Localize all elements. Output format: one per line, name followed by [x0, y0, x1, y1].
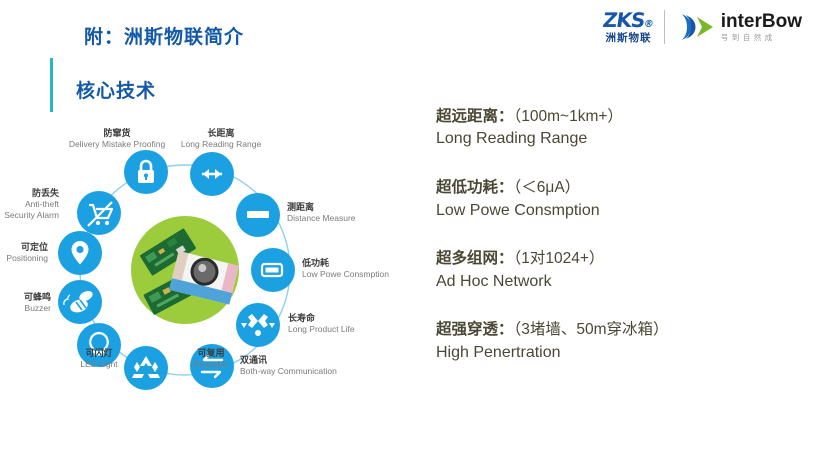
label-cn: 防丢失: [0, 188, 59, 199]
feature-item: 超强穿透：（3堵墙、50m穿冰箱） High Penertration: [436, 319, 812, 363]
feature-value: （3堵墙、50m穿冰箱）: [514, 321, 669, 338]
label-distance-measure: 测距离 Distance Measure: [287, 202, 356, 224]
zks-registered-mark: ®: [643, 19, 654, 30]
page-title: 附：洲斯物联简介: [84, 22, 244, 49]
label-en-line1: Anti-theft: [0, 199, 59, 210]
brand-logo-area: ZKS® 洲斯物联 interBow 号到自然成: [603, 10, 802, 44]
interbow-name-part2: Bow: [762, 11, 802, 32]
node-battery[interactable]: [251, 248, 295, 292]
feature-en-label: High Penertration: [436, 342, 812, 364]
feature-cn-label: 超低功耗：: [436, 179, 514, 196]
feature-cn-label: 超远距离：: [436, 108, 514, 125]
section-title: 核心技术: [76, 76, 156, 103]
zks-chinese-name: 洲斯物联: [606, 33, 652, 44]
label-long-reading-range: 长距离 Long Reading Range: [166, 128, 276, 150]
feature-value: （＜6μA）: [514, 179, 581, 196]
zks-logo: ZKS® 洲斯物联: [603, 10, 653, 44]
interbow-bow-icon: [675, 12, 715, 42]
core-technology-diagram: 防窜货 Delivery Mistake Proofing 防丢失 Anti-t…: [0, 120, 420, 420]
feature-value: （100m~1km+）: [514, 108, 623, 125]
feature-heading: 超多组网：（1对1024+）: [436, 248, 812, 270]
feature-en-label: Low Powe Consmption: [436, 200, 812, 222]
feature-item: 超低功耗：（＜6μA） Low Powe Consmption: [436, 177, 812, 221]
node-lock[interactable]: [124, 150, 168, 194]
label-low-power-consumption: 低功耗 Low Powe Consmption: [302, 258, 389, 280]
feature-item: 超远距离：（100m~1km+） Long Reading Range: [436, 106, 812, 150]
label-en: Long Reading Range: [166, 139, 276, 150]
label-cn: 可复用: [156, 348, 266, 359]
node-pin[interactable]: [58, 231, 102, 275]
slide-root: ZKS® 洲斯物联 interBow 号到自然成 附：洲斯物联简介 核心技术 超…: [0, 0, 820, 461]
feature-value: （1对1024+）: [514, 250, 605, 267]
feature-item: 超多组网：（1对1024+） Ad Hoc Network: [436, 248, 812, 292]
label-cn: 可蜂鸣: [0, 292, 51, 303]
node-double-arrow[interactable]: [190, 152, 234, 196]
interbow-text: interBow 号到自然成: [721, 12, 802, 42]
label-led-light: 可闪灯 LED Light: [49, 348, 149, 370]
node-distance-bar[interactable]: [236, 193, 280, 237]
node-bee[interactable]: [58, 280, 102, 324]
feature-heading: 超强穿透：（3堵墙、50m穿冰箱）: [436, 319, 812, 341]
label-positioning: 可定位 Positioning: [0, 242, 48, 264]
logo-divider: [664, 10, 665, 44]
label-anti-theft: 防丢失 Anti-theft Security Alarm: [0, 188, 59, 221]
label-cn: 低功耗: [302, 258, 389, 269]
label-en: Buzzer: [0, 303, 51, 314]
feature-list: 超远距离：（100m~1km+） Long Reading Range 超低功耗…: [436, 106, 812, 363]
label-cn: 测距离: [287, 202, 356, 213]
label-buzzer: 可蜂鸣 Buzzer: [0, 292, 51, 314]
label-en: Reusable: [156, 359, 266, 370]
node-cart-slash[interactable]: [77, 191, 121, 235]
label-en-line2: Security Alarm: [0, 210, 59, 221]
interbow-tagline: 号到自然成: [721, 34, 802, 42]
label-en: Long Product Life: [288, 324, 355, 335]
node-long-life[interactable]: [236, 303, 280, 347]
interbow-name: interBow: [721, 12, 802, 31]
label-en: LED Light: [49, 359, 149, 370]
feature-en-label: Long Reading Range: [436, 128, 812, 150]
feature-cn-label: 超多组网：: [436, 250, 514, 267]
label-cn: 可定位: [0, 242, 48, 253]
label-cn: 长距离: [166, 128, 276, 139]
feature-heading: 超远距离：（100m~1km+）: [436, 106, 812, 128]
interbow-logo: interBow 号到自然成: [675, 12, 802, 42]
feature-en-label: Ad Hoc Network: [436, 271, 812, 293]
feature-cn-label: 超强穿透：: [436, 321, 514, 338]
label-en: Distance Measure: [287, 213, 356, 224]
label-en: Low Powe Consmption: [302, 269, 389, 280]
interbow-name-part1: inter: [721, 11, 762, 32]
label-cn: 长寿命: [288, 313, 355, 324]
label-long-product-life: 长寿命 Long Product Life: [288, 313, 355, 335]
label-cn: 可闪灯: [49, 348, 149, 359]
feature-heading: 超低功耗：（＜6μA）: [436, 177, 812, 199]
zks-wordmark-text: ZKS: [602, 8, 647, 32]
zks-wordmark: ZKS®: [602, 10, 655, 30]
section-accent-bar: [50, 58, 53, 112]
label-en: Positioning: [0, 253, 48, 264]
label-reusable: 可复用 Reusable: [156, 348, 266, 370]
